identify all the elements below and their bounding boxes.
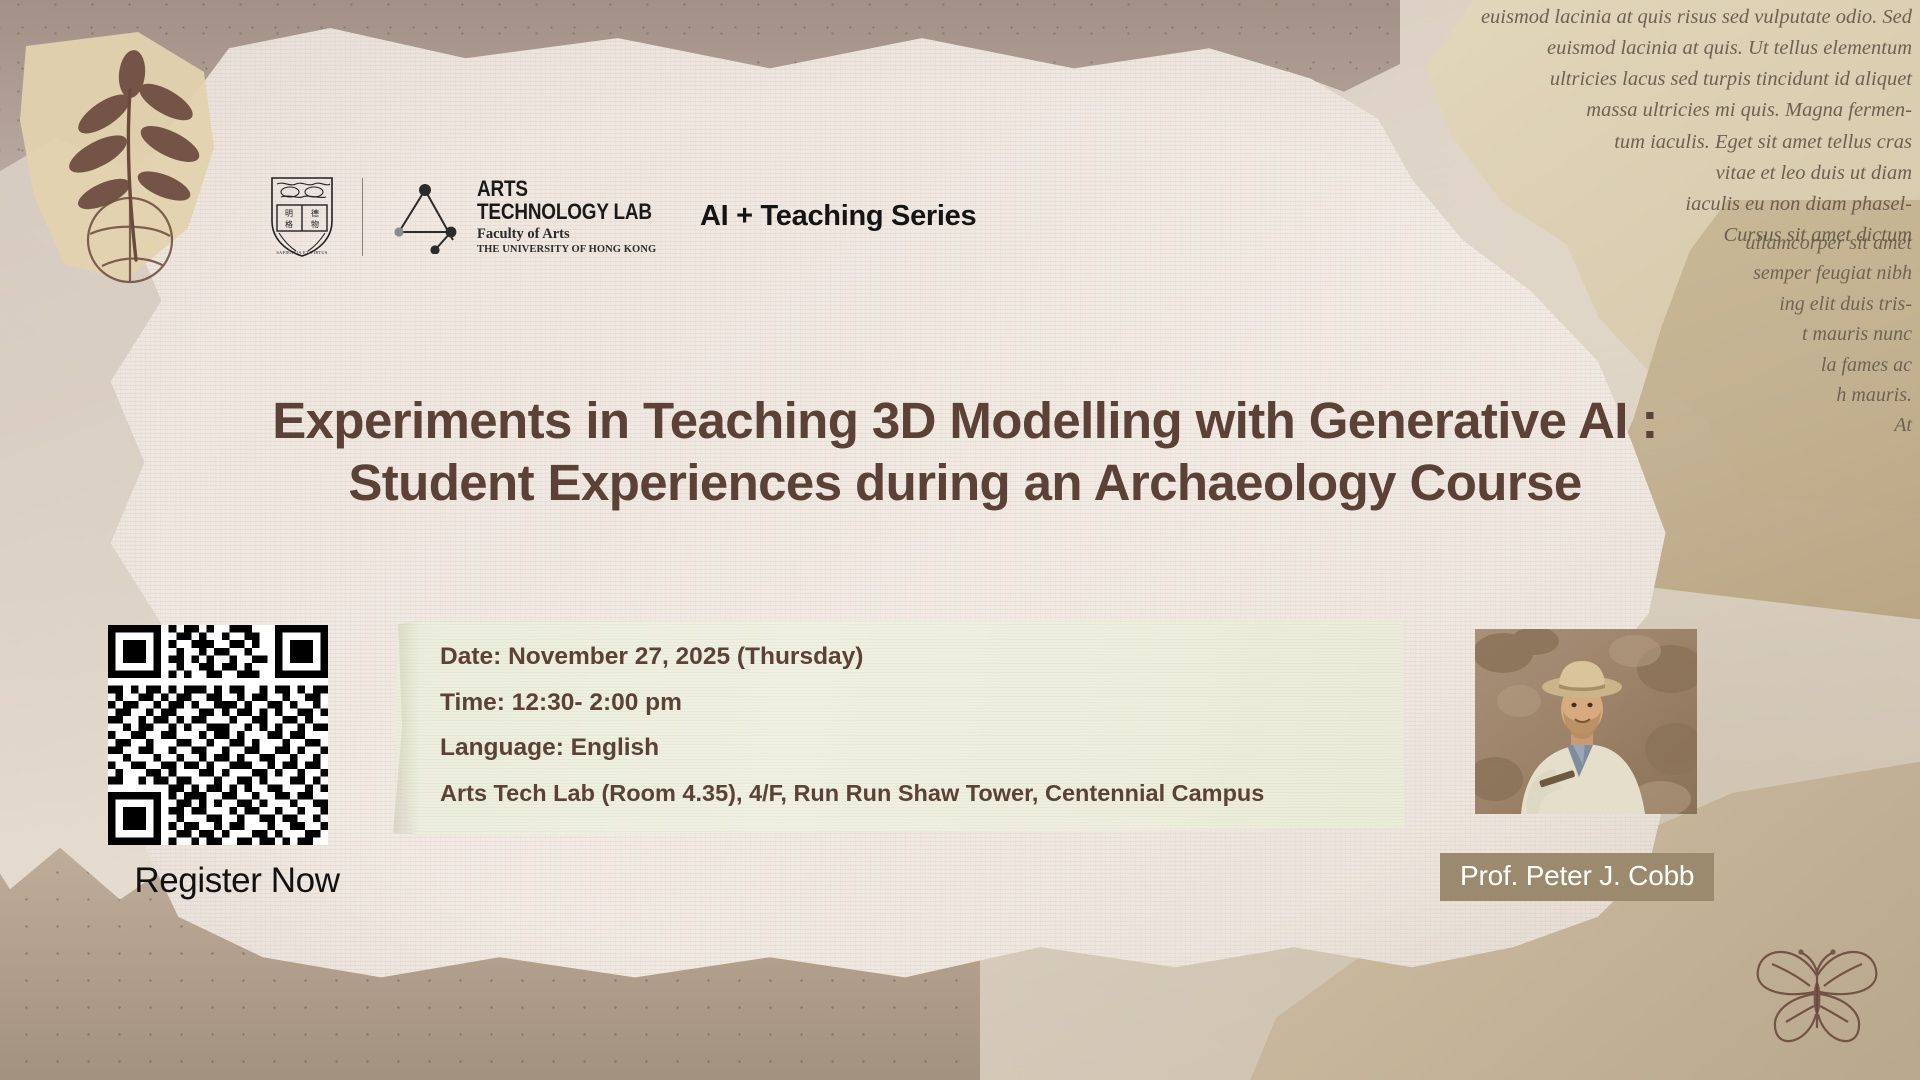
faculty-label: Faculty of Arts: [477, 227, 680, 243]
arts-tech-lab-wordmark: ARTS TECHNOLOGY LAB Faculty of Arts THE …: [477, 178, 680, 255]
detail-venue: Arts Tech Lab (Room 4.35), 4/F, Run Run …: [440, 782, 1264, 806]
university-label: THE UNIVERSITY OF HONG KONG: [477, 244, 680, 256]
svg-text:物: 物: [311, 219, 319, 229]
speaker-portrait: [1475, 629, 1697, 814]
hku-crest-icon: 明德 格物 SAPIENTIA ET VIRTUS: [268, 175, 336, 259]
lab-name-line2: TECHNOLOGY LAB: [477, 201, 652, 224]
detail-language: Language: English: [440, 736, 1264, 761]
botanical-leaf-icon: [18, 28, 248, 298]
detail-date: Date: November 27, 2025 (Thursday): [440, 645, 1264, 670]
svg-text:SAPIENTIA ET VIRTUS: SAPIENTIA ET VIRTUS: [276, 250, 327, 255]
title-line-1: Experiments in Teaching 3D Modelling wit…: [272, 392, 1658, 449]
page-title: Experiments in Teaching 3D Modelling wit…: [120, 390, 1810, 514]
series-label: AI + Teaching Series: [700, 200, 976, 233]
svg-text:明: 明: [285, 209, 293, 218]
arts-tech-lab-mark-icon: [389, 180, 463, 254]
lab-name-line1: ARTS: [477, 178, 652, 201]
butterfly-icon: [1742, 936, 1892, 1056]
qr-code[interactable]: [108, 625, 328, 845]
speaker-name-badge: Prof. Peter J. Cobb: [1440, 853, 1714, 901]
register-now-label[interactable]: Register Now: [108, 861, 366, 901]
svg-text:格: 格: [285, 219, 293, 229]
svg-text:德: 德: [311, 208, 319, 218]
registration-block[interactable]: Register Now: [108, 625, 366, 901]
logo-divider: [362, 178, 363, 256]
branding-header: 明德 格物 SAPIENTIA ET VIRTUS: [268, 175, 680, 259]
decorative-latin-text-top: euismod lacinia at quis risus sed vulput…: [1392, 2, 1912, 251]
poster-canvas: euismod lacinia at quis risus sed vulput…: [0, 0, 1920, 1080]
title-line-2: Student Experiences during an Archaeolog…: [120, 452, 1810, 514]
event-details-text: Date: November 27, 2025 (Thursday) Time:…: [440, 645, 1264, 805]
detail-time: Time: 12:30- 2:00 pm: [440, 691, 1264, 716]
